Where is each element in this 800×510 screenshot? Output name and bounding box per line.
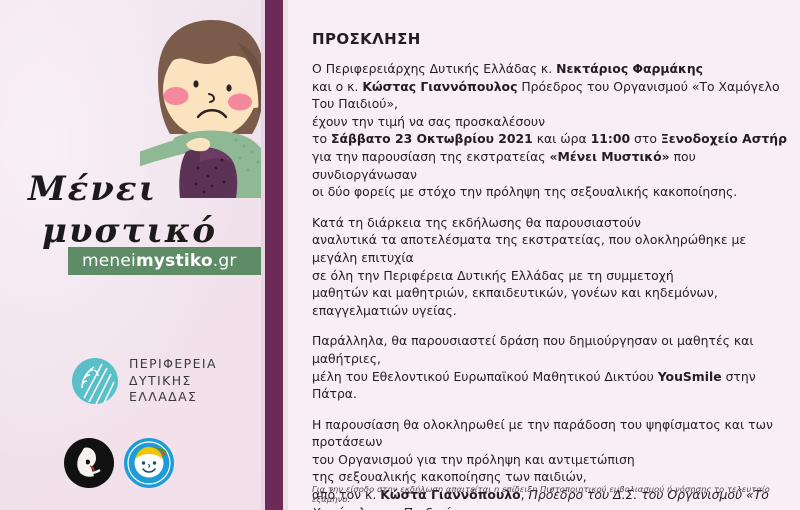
strong-run: «Μένει Μυστικό» <box>550 149 670 164</box>
sad-child-with-pencil-illustration <box>140 18 265 198</box>
left-branding-panel: Μένει μυστικό meneimystiko.gr <box>0 0 265 510</box>
paragraph-p1: Ο Περιφερειάρχης Δυτικής Ελλάδας κ. Νεκτ… <box>312 60 790 201</box>
paragraph-p3: Παράλληλα, θα παρουσιαστεί δράση που δημ… <box>312 332 790 402</box>
invitation-poster: Μένει μυστικό meneimystiko.gr <box>0 0 800 510</box>
campaign-logo-line2: μυστικό <box>42 214 254 248</box>
website-bold: mystiko <box>136 251 213 271</box>
to-hamogelo-tou-paidiou-badge-icon <box>124 438 174 488</box>
black-white-child-badge-icon <box>64 438 114 488</box>
region-text-line3: ΕΛΛΑΔΑΣ <box>129 389 217 406</box>
vertical-divider-bar <box>265 0 283 510</box>
strong-run: 11:00 <box>591 131 630 146</box>
strong-run: YouSmile <box>658 369 722 384</box>
region-emblem-icon <box>72 358 118 404</box>
invitation-text-panel: ΠΡΟΣΚΛΗΣΗ Ο Περιφερειάρχης Δυτικής Ελλάδ… <box>288 0 800 510</box>
page-title: ΠΡΟΣΚΛΗΣΗ <box>312 30 421 48</box>
campaign-logo-line1: Μένει <box>28 172 254 206</box>
region-text-line1: ΠΕΡΙΦΕΡΕΙΑ <box>129 356 217 373</box>
invitation-body: Ο Περιφερειάρχης Δυτικής Ελλάδας κ. Νεκτ… <box>312 60 790 510</box>
region-logo-text: ΠΕΡΙΦΕΡΕΙΑ ΔΥΤΙΚΗΣ ΕΛΛΑΔΑΣ <box>129 356 217 406</box>
campaign-website-bar[interactable]: meneimystiko.gr <box>68 247 264 275</box>
campaign-website-text: meneimystiko.gr <box>68 251 237 271</box>
strong-run: Σάββατο 23 Οκτωβρίου 2021 <box>331 131 533 146</box>
strong-run: Ξενοδοχείο Αστήρ <box>661 131 787 146</box>
region-text-line2: ΔΥΤΙΚΗΣ <box>129 373 217 390</box>
website-prefix: menei <box>82 251 136 271</box>
partner-badges <box>64 438 174 488</box>
covid-certificate-notice: Για την είσοδο στην εκδήλωση απαιτείται … <box>312 484 790 504</box>
region-of-western-greece-logo: ΠΕΡΙΦΕΡΕΙΑ ΔΥΤΙΚΗΣ ΕΛΛΑΔΑΣ <box>72 356 217 406</box>
campaign-logo: Μένει μυστικό <box>24 172 254 248</box>
paragraph-p2: Κατά τη διάρκεια της εκδήλωσης θα παρουσ… <box>312 214 790 320</box>
website-suffix: .gr <box>213 251 237 271</box>
strong-run: Κώστας Γιαννόπουλος <box>362 79 517 94</box>
strong-run: Νεκτάριος Φαρμάκης <box>556 61 703 76</box>
